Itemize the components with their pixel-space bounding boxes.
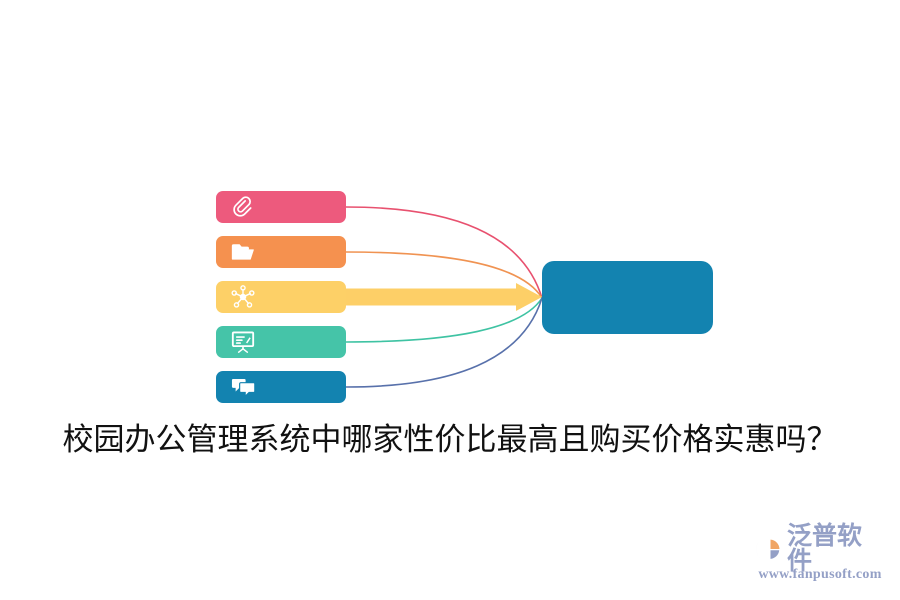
page-title: 校园办公管理系统中哪家性价比最高且购买价格实惠吗？: [0, 418, 900, 462]
diagram-node-network[interactable]: [216, 281, 346, 313]
watermark-url: www.fanpusoft.com: [754, 567, 886, 583]
convergence-diagram: [0, 0, 900, 600]
folder-open-icon: [230, 239, 256, 265]
connector-lines: [0, 0, 900, 600]
presentation-board-icon: [230, 329, 256, 355]
network-hub-icon: [230, 284, 256, 310]
chat-bubbles-icon: [230, 374, 256, 400]
diagram-node-paperclip[interactable]: [216, 191, 346, 223]
watermark-logo: 泛普软件 www.fanpusoft.com: [754, 532, 886, 586]
diagram-target-box[interactable]: [542, 261, 713, 334]
paperclip-icon: [230, 194, 256, 220]
diagram-node-folder[interactable]: [216, 236, 346, 268]
diagram-node-presentation[interactable]: [216, 326, 346, 358]
fanpu-logo-icon: [754, 534, 784, 564]
screenshot-canvas: 校园办公管理系统中哪家性价比最高且购买价格实惠吗？ 泛普软件 www.fanpu…: [0, 0, 900, 600]
diagram-node-chat[interactable]: [216, 371, 346, 403]
